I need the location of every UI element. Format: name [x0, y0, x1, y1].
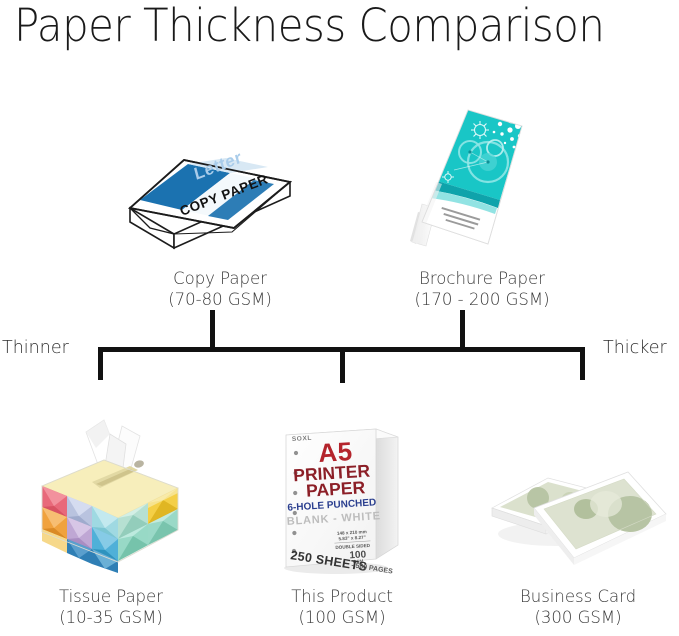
label-brochure-paper: Brochure Paper (170 - 200 GSM) — [368, 268, 596, 310]
business-card-image — [478, 470, 668, 580]
brochure-paper-image — [396, 104, 566, 259]
tick-copy-paper — [210, 310, 215, 350]
this-product-image: SOXL A5 PRINTER PAPER 6-HOLE PUNCHED BLA… — [272, 417, 414, 575]
paper-thickness-comparison-infographic: { "title": "Paper Thickness Comparison",… — [0, 0, 679, 636]
this-product-name: This Product — [291, 587, 393, 606]
product-brand-text: SOXL — [292, 435, 312, 443]
page-title: Paper Thickness Comparison — [14, 0, 628, 54]
label-this-product: This Product (100 GSM) — [252, 586, 432, 628]
tissue-paper-image — [26, 414, 194, 574]
tick-this-product — [340, 350, 345, 383]
axis-endcap-left — [98, 347, 103, 380]
copy-paper-image: Letter COPY PAPER — [122, 136, 312, 256]
axis-label-thinner: Thinner — [2, 337, 69, 359]
business-card-name: Business Card — [520, 587, 636, 606]
label-tissue-paper: Tissue Paper (10-35 GSM) — [12, 586, 210, 628]
tissue-paper-gsm: (10-35 GSM) — [12, 607, 210, 628]
copy-paper-name: Copy Paper — [173, 269, 267, 288]
label-copy-paper: Copy Paper (70-80 GSM) — [120, 268, 320, 310]
business-card-gsm: (300 GSM) — [478, 607, 678, 628]
copy-paper-gsm: (70-80 GSM) — [120, 289, 320, 310]
axis-endcap-right — [580, 347, 585, 380]
product-title-line-2: PAPER — [306, 477, 366, 501]
label-business-card: Business Card (300 GSM) — [478, 586, 678, 628]
tick-brochure-paper — [460, 310, 465, 350]
brochure-paper-name: Brochure Paper — [419, 269, 545, 288]
this-product-gsm: (100 GSM) — [252, 607, 432, 628]
brochure-paper-gsm: (170 - 200 GSM) — [368, 289, 596, 310]
axis-label-thicker: Thicker — [603, 337, 667, 359]
tissue-paper-name: Tissue Paper — [59, 587, 163, 606]
